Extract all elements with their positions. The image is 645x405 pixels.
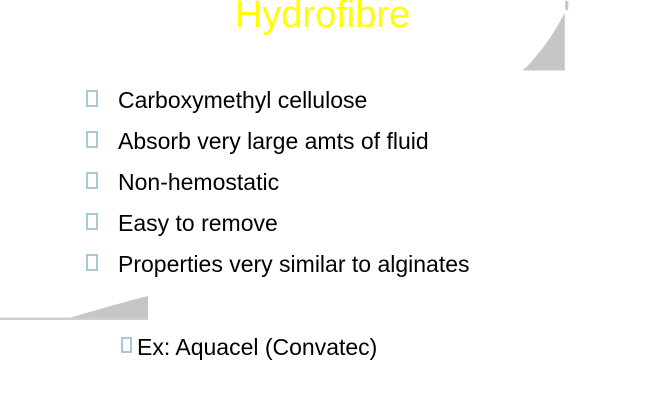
list-item-label: Easy to remove — [118, 209, 626, 237]
presentation-slide: Hydrofibre Carboxymethyl cellulose Absor… — [0, 0, 645, 405]
list-item-label: Absorb very large amts of fluid — [118, 127, 626, 155]
tofu-box-bullet-icon — [86, 131, 98, 148]
list-item: Carboxymethyl cellulose — [86, 86, 626, 127]
bullet-list: Carboxymethyl cellulose Absorb very larg… — [86, 86, 626, 291]
list-item-label: Non-hemostatic — [118, 168, 626, 196]
sub-list-item-label: Ex: Aquacel (Convatec) — [137, 333, 377, 361]
wedge-shape-decoration-icon — [0, 288, 165, 326]
tofu-box-bullet-icon — [86, 90, 98, 107]
sub-list-item: Ex: Aquacel (Convatec) — [121, 333, 377, 361]
tofu-box-bullet-icon — [121, 337, 132, 353]
list-item: Absorb very large amts of fluid — [86, 127, 626, 168]
tofu-box-bullet-icon — [86, 254, 98, 271]
slide-title: Hydrofibre — [0, 0, 645, 37]
list-item-label: Carboxymethyl cellulose — [118, 86, 626, 114]
tofu-box-bullet-icon — [86, 172, 98, 189]
tofu-box-bullet-icon — [86, 213, 98, 230]
list-item: Non-hemostatic — [86, 168, 626, 209]
list-item: Easy to remove — [86, 209, 626, 250]
list-item-label: Properties very similar to alginates — [118, 250, 626, 278]
list-item: Properties very similar to alginates — [86, 250, 626, 291]
